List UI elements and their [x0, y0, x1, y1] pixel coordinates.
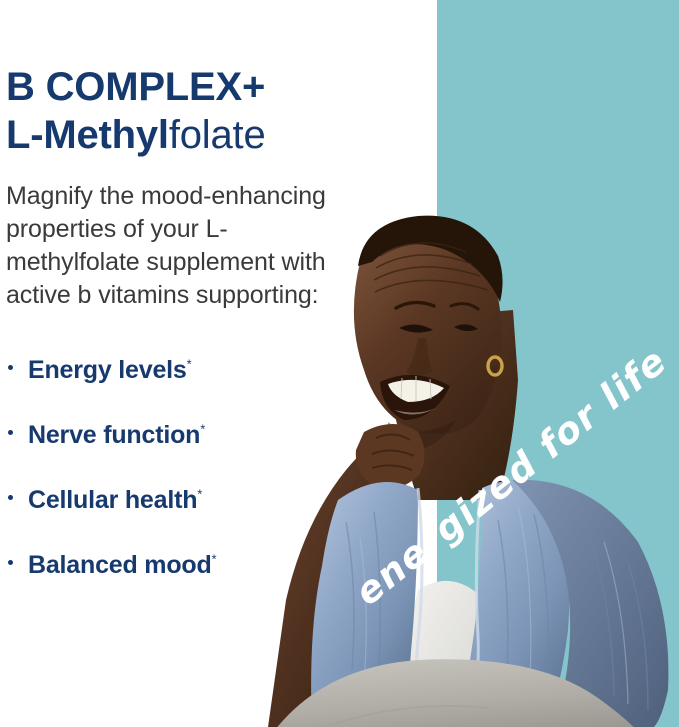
page-title: B COMPLEX+ L-Methylfolate [6, 63, 396, 159]
benefit-item-balanced-mood: Balanced mood* [6, 550, 366, 615]
benefit-footnote-marker: * [212, 552, 217, 567]
benefit-footnote-marker: * [187, 357, 192, 372]
benefit-item-energy-levels: Energy levels* [6, 355, 366, 420]
benefit-item-cellular-health: Cellular health* [6, 485, 366, 550]
copy-column: B COMPLEX+ L-Methylfolate Magnify the mo… [0, 0, 400, 727]
title-line-2-bold: L-Methyl [6, 113, 169, 157]
bullet-dot-icon [8, 560, 13, 565]
title-line-2: L-Methylfolate [6, 111, 396, 159]
benefit-footnote-marker: * [200, 422, 205, 437]
benefit-label: Energy levels [28, 356, 187, 384]
title-line-2-regular: folate [169, 113, 266, 157]
bullet-dot-icon [8, 495, 13, 500]
benefit-footnote-marker: * [197, 487, 202, 502]
title-line-1: B COMPLEX+ [6, 63, 396, 111]
benefits-list: Energy levels* Nerve function* Cellular … [6, 355, 366, 615]
benefit-label: Balanced mood [28, 551, 212, 579]
bullet-dot-icon [8, 430, 13, 435]
body-paragraph: Magnify the mood-enhancing properties of… [6, 180, 354, 312]
product-marketing-image: energized for life. B COMPLEX+ L-Methylf… [0, 0, 679, 727]
benefit-label: Nerve function [28, 421, 200, 449]
benefit-label: Cellular health [28, 486, 197, 514]
bullet-dot-icon [8, 365, 13, 370]
benefit-item-nerve-function: Nerve function* [6, 420, 366, 485]
